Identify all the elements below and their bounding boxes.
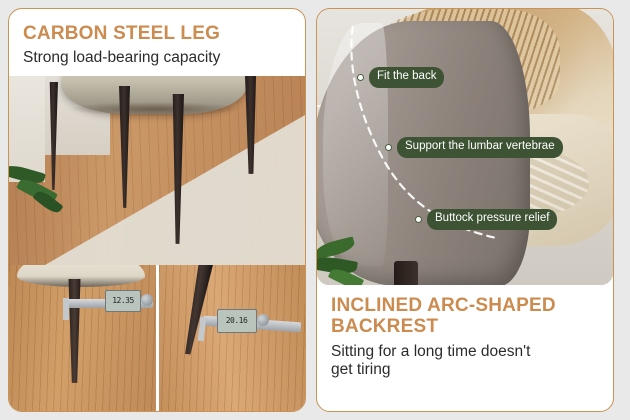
caliper-reading: 12.35 [112,296,134,305]
seat-shadow [69,102,239,116]
left-card-text-block: CARBON STEEL LEG Strong load-bearing cap… [9,9,305,76]
callout-dot-icon [385,144,392,151]
left-card-heading: CARBON STEEL LEG [23,23,291,44]
caliper-knob-icon [257,314,269,326]
callout-fit-the-back: Fit the back [357,67,444,88]
right-card-text-block: INCLINED ARC-SHAPED BACKREST Sitting for… [317,285,613,392]
callout-label: Support the lumbar vertebrae [397,137,563,158]
right-card-subheading: Sitting for a long time doesn't get tiri… [331,343,599,380]
caliper-knob-icon [141,294,153,306]
carbon-steel-leg-card: CARBON STEEL LEG Strong load-bearing cap… [8,8,306,412]
leaf-icon [317,236,356,259]
chair-seat-edge [17,265,145,287]
caliper-display: 20.16 [217,309,257,333]
callout-dot-icon [357,74,364,81]
callout-dot-icon [415,216,422,223]
plant-decoration [9,162,75,218]
inclined-backrest-card: Fit the back Support the lumbar vertebra… [316,8,614,412]
caliper-reading: 20.16 [226,316,248,325]
callout-buttock-pressure-relief: Buttock pressure relief [415,209,557,230]
callout-label: Buttock pressure relief [427,209,557,230]
seated-person-photo: Fit the back Support the lumbar vertebra… [317,9,613,285]
wood-grain-texture [159,265,306,411]
measurement-thumbnails: 12.35 20.16 [9,265,305,411]
plant-decoration [317,223,377,281]
chair-base [394,261,418,285]
caliper-jaw [63,298,69,320]
right-card-heading: INCLINED ARC-SHAPED BACKREST [331,295,599,338]
product-feature-page: CARBON STEEL LEG Strong load-bearing cap… [0,0,630,420]
callout-label: Fit the back [369,67,444,88]
thumbnail-leg-foot: 20.16 [159,265,306,411]
chair-legs-photo [9,76,305,265]
left-card-subheading: Strong load-bearing capacity [23,49,291,68]
caliper-display: 12.35 [105,290,141,312]
callout-lumbar-support: Support the lumbar vertebrae [385,137,563,158]
thumbnail-leg-diameter: 12.35 [9,265,156,411]
